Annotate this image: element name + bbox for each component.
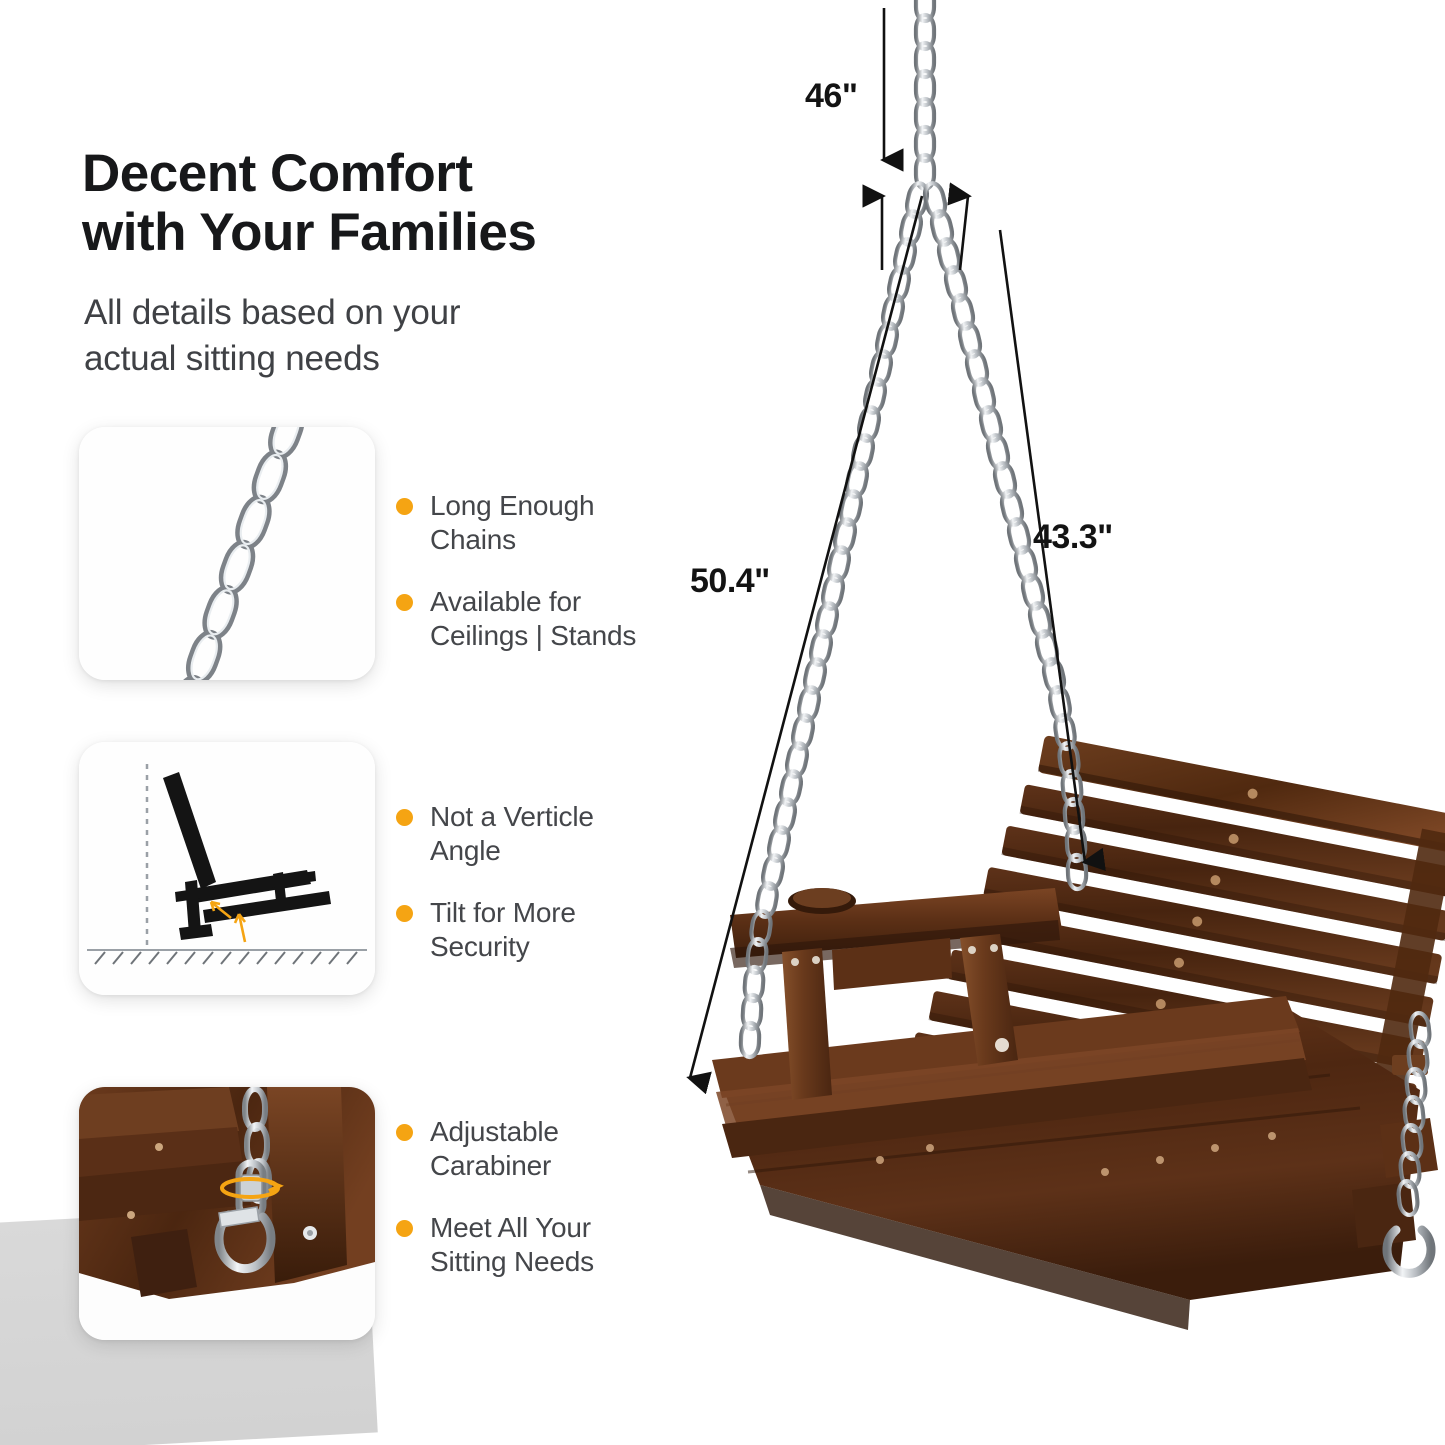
list-item: Meet All Your Sitting Needs	[396, 1211, 666, 1279]
bullet-dot-icon	[396, 1124, 413, 1141]
page-subtitle: All details based on your actual sitting…	[84, 290, 644, 382]
list-item: Tilt for More Security	[396, 896, 666, 964]
headline-line-2: with Your Families	[82, 203, 722, 262]
dimension-label-50-4: 50.4"	[690, 562, 770, 601]
bullet-label: Not a Verticle Angle	[430, 800, 666, 868]
tilt-angle-diagram-image	[79, 742, 375, 995]
feature-bullets-carabiner: Adjustable Carabiner Meet All Your Sitti…	[396, 1115, 666, 1280]
tilt-angle-diagram-card	[79, 742, 375, 995]
bullet-label: Meet All Your Sitting Needs	[430, 1211, 666, 1279]
bullet-dot-icon	[396, 809, 413, 826]
product-infographic: Decent Comfort with Your Families All de…	[0, 0, 1445, 1445]
subtitle-line-2: actual sitting needs	[84, 339, 380, 378]
bullet-dot-icon	[396, 1220, 413, 1237]
chain-closeup-image	[79, 427, 375, 680]
carabiner-closeup-card	[79, 1087, 375, 1340]
list-item: Available for Ceilings | Stands	[396, 585, 666, 653]
bullet-dot-icon	[396, 905, 413, 922]
bullet-label: Long Enough Chains	[430, 489, 666, 557]
feature-bullets-chains: Long Enough Chains Available for Ceiling…	[396, 489, 666, 654]
dimension-label-43-3: 43.3"	[1033, 518, 1113, 557]
list-item: Adjustable Carabiner	[396, 1115, 666, 1183]
bullet-dot-icon	[396, 498, 413, 515]
chain-closeup-card	[79, 427, 375, 680]
list-item: Long Enough Chains	[396, 489, 666, 557]
bullet-label: Adjustable Carabiner	[430, 1115, 666, 1183]
bullet-label: Tilt for More Security	[430, 896, 666, 964]
page-title: Decent Comfort with Your Families	[82, 144, 722, 263]
feature-bullets-tilt: Not a Verticle Angle Tilt for More Secur…	[396, 800, 666, 965]
list-item: Not a Verticle Angle	[396, 800, 666, 868]
carabiner-closeup-image	[79, 1087, 375, 1340]
bullet-label: Available for Ceilings | Stands	[430, 585, 666, 653]
subtitle-line-1: All details based on your	[84, 293, 460, 332]
bullet-dot-icon	[396, 594, 413, 611]
headline-line-1: Decent Comfort	[82, 144, 473, 203]
dimension-label-46: 46"	[805, 77, 857, 116]
